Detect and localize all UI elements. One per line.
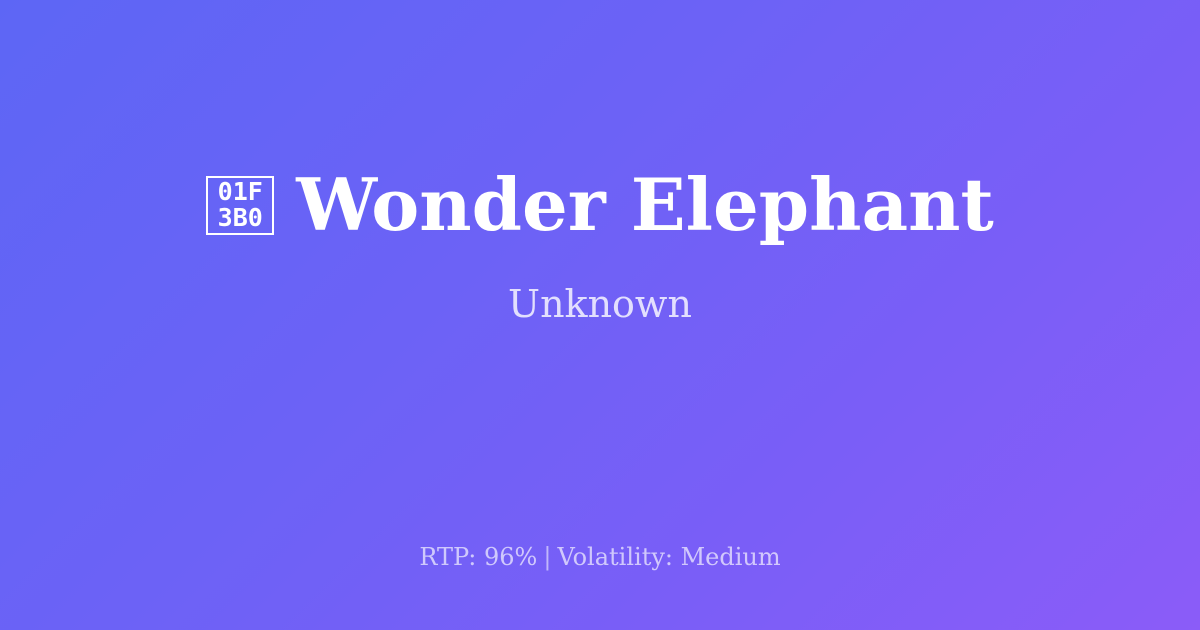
game-hero-banner: 01F 3B0 Wonder Elephant Unknown RTP: 96%… xyxy=(0,0,1200,630)
slot-machine-icon: 01F 3B0 xyxy=(206,176,274,235)
slot-machine-icon-codepoint-low: 3B0 xyxy=(218,205,263,231)
rtp-value: RTP: 96% xyxy=(419,543,537,571)
title-row: 01F 3B0 Wonder Elephant xyxy=(206,165,994,245)
game-stats-line: RTP: 96%|Volatility: Medium xyxy=(419,542,780,572)
hero-footer: RTP: 96%|Volatility: Medium xyxy=(0,542,1200,572)
hero-content-stack: 01F 3B0 Wonder Elephant Unknown xyxy=(0,0,1200,492)
page-title: Wonder Elephant xyxy=(296,165,994,245)
stats-separator: | xyxy=(537,543,557,571)
volatility-value: Volatility: Medium xyxy=(557,543,780,571)
game-provider-subtitle: Unknown xyxy=(508,281,692,327)
slot-machine-icon-codepoint-high: 01F xyxy=(218,179,263,205)
